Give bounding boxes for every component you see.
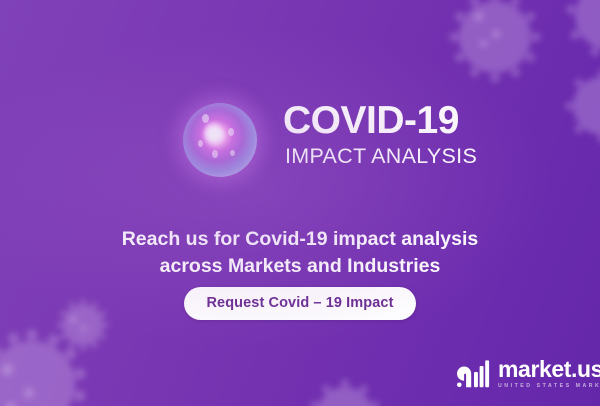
- covid-logotype: COVID-19 IMPACT ANALYSIS: [283, 101, 533, 168]
- ghost-virus-bottom-center: [302, 372, 388, 406]
- brand-name: market.us: [498, 358, 600, 381]
- request-covid-impact-button[interactable]: Request Covid – 19 Impact: [184, 287, 415, 320]
- page-subtitle: IMPACT ANALYSIS: [285, 146, 533, 168]
- virus-surface-nub: [230, 150, 235, 156]
- page-title: COVID-19: [283, 101, 533, 140]
- virus-surface-nub: [228, 128, 234, 136]
- headline-line-1: Reach us for Covid-19 impact analysis: [0, 226, 600, 253]
- background-decoration-layer: [0, 0, 600, 406]
- ghost-virus-bottom-left-large: [0, 318, 98, 406]
- headline-line-2: across Markets and Industries: [0, 253, 600, 280]
- virus-surface-nub: [202, 114, 209, 123]
- ghost-virus-top-right-1: [440, 0, 550, 92]
- market-us-bars-logo-icon: [457, 360, 491, 388]
- headline: Reach us for Covid-19 impact analysis ac…: [0, 226, 600, 279]
- cta-container: Request Covid – 19 Impact: [0, 287, 600, 320]
- coronavirus-illustration: [168, 88, 272, 192]
- covid-impact-banner: COVID-19 IMPACT ANALYSIS Reach us for Co…: [0, 0, 600, 406]
- ghost-virus-top-right-2: [556, 0, 600, 68]
- virus-surface-nub: [198, 140, 203, 147]
- brand-tagline: UNITED STATES MARKET NEWS: [498, 384, 600, 389]
- ghost-virus-right-mid: [556, 60, 600, 152]
- virus-surface-nub: [212, 150, 218, 158]
- market-us-logo[interactable]: market.us UNITED STATES MARKET NEWS: [457, 358, 600, 389]
- brand-text-group: market.us UNITED STATES MARKET NEWS: [498, 358, 600, 389]
